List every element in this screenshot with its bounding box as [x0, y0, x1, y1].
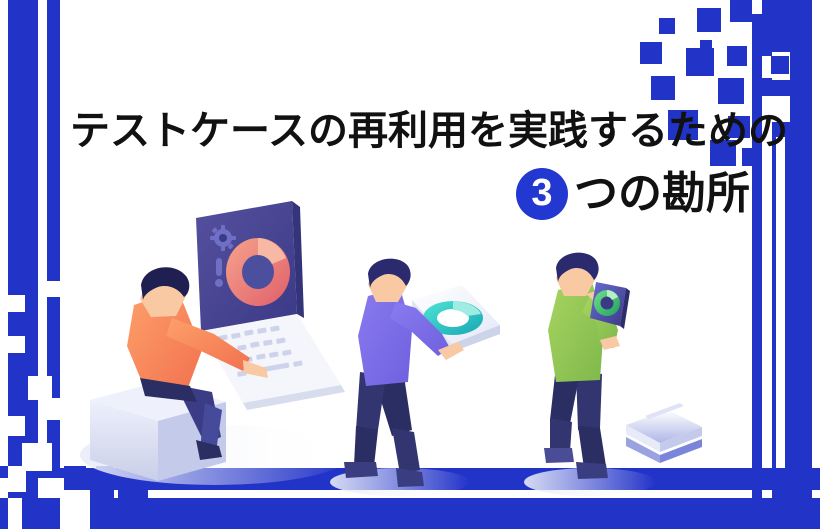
laptop-base-edge [243, 385, 345, 410]
green-donut-chart [594, 290, 620, 316]
bottom-pixel-block-3 [90, 490, 114, 498]
head [556, 256, 596, 296]
hair [368, 259, 411, 288]
leg-front-lower [550, 418, 572, 452]
mosaic-square-4 [640, 42, 662, 64]
bottom-pixel-block-2 [64, 466, 86, 476]
headline-suffix: つの勘所 [574, 172, 750, 216]
leg-back [372, 372, 412, 436]
left-thin-bar-notch-1 [47, 281, 60, 297]
arm [390, 302, 450, 356]
laptop-keyboard-base [201, 314, 341, 403]
figure-seated-developer [80, 201, 350, 485]
laptop-keys [218, 325, 303, 376]
mosaic-square-3 [730, 0, 752, 22]
bottom-pixel-block-4 [96, 466, 114, 478]
belt [140, 378, 197, 402]
right-vertical-bar-thin [752, 0, 762, 529]
laptop [196, 201, 345, 410]
left-bar-notch-8 [60, 498, 90, 529]
hand-upper [586, 288, 616, 308]
left-bar-notch-3 [28, 376, 52, 400]
right-bar-slit [776, 137, 785, 468]
leg-front [550, 366, 580, 424]
teal-donut-chart [423, 301, 483, 335]
left-bar-notch-5 [22, 443, 52, 471]
person-green-shirt [544, 253, 630, 479]
slide-canvas: テストケースの再利用を実践するための 3 つの勘所 [0, 0, 820, 529]
arm [166, 318, 250, 371]
shoe-front [544, 448, 574, 463]
head [368, 262, 408, 302]
mosaic-square-9 [718, 78, 744, 104]
bottom-pixel-block-5 [118, 490, 148, 498]
figure-tablet-reviewer [524, 253, 702, 496]
exclamation-icon [215, 258, 223, 287]
mosaic-square-6 [686, 48, 714, 76]
left-bar-notch-4 [8, 416, 25, 436]
mosaic-square-1 [697, 8, 721, 32]
laptop-screen [196, 201, 297, 331]
gear-icon [210, 225, 236, 251]
leg-back [576, 370, 602, 430]
bottom-pixel-block-1 [0, 466, 8, 478]
head [140, 275, 186, 317]
bottom-horizontal-bar-upper [0, 468, 820, 490]
mosaic-square-2 [659, 18, 675, 34]
torso [548, 282, 604, 382]
hand-lower [600, 336, 620, 350]
torso [127, 290, 202, 393]
right-bar-connector-top [762, 0, 772, 56]
leg-lower [200, 403, 222, 452]
left-thin-bar-notch-2 [47, 398, 60, 420]
hair [141, 267, 189, 300]
mosaic-square-10 [771, 56, 789, 74]
mosaic-square-7 [727, 46, 747, 66]
headline-line-1: テストケースの再利用を実践するための [70, 108, 750, 154]
right-bar-inner-notch [752, 0, 762, 14]
headline-line-2: 3 つの勘所 [70, 168, 750, 220]
left-bar-notch-1 [8, 295, 25, 312]
figure-walking-analyst [330, 259, 500, 496]
number-badge: 3 [516, 168, 568, 220]
leg-front-lower [354, 426, 378, 466]
left-bar-notch-9 [8, 498, 22, 529]
headline-block: テストケースの再利用を実践するための 3 つの勘所 [70, 108, 750, 220]
person-purple-shirt [344, 259, 464, 487]
stacked-layers-box [626, 403, 702, 463]
arm [582, 296, 618, 348]
hand [243, 360, 268, 378]
bottom-bar-gap [60, 490, 82, 498]
left-bar-notch-2 [8, 336, 25, 353]
hair [556, 253, 599, 282]
mosaic-square-8 [651, 76, 675, 100]
person-orange-shirt [127, 267, 268, 460]
orange-donut-chart [226, 238, 290, 306]
isometric-team-illustration [0, 0, 820, 529]
leg-back-lower [578, 426, 606, 468]
bottom-horizontal-bar-lower [0, 498, 820, 529]
tablet [590, 282, 630, 329]
leg-front [356, 372, 386, 430]
hand [438, 342, 464, 360]
shoe [196, 440, 222, 460]
leg-upper [176, 385, 221, 444]
torso [358, 288, 412, 386]
floating-card [412, 285, 500, 352]
right-bar-connector-mid [762, 78, 772, 96]
